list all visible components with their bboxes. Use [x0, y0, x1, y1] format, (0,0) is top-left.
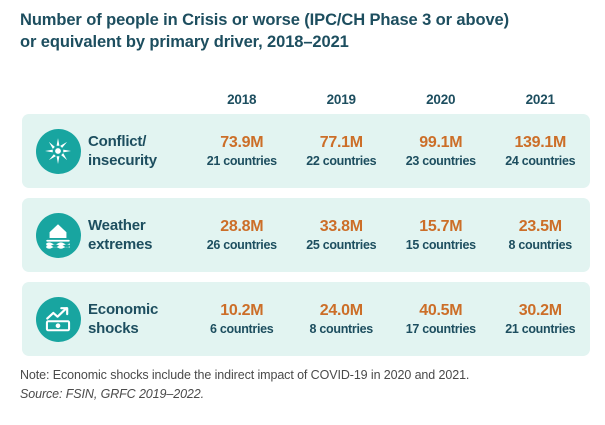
cell-countries: 15 countries — [391, 238, 491, 252]
column-header-2021: 2021 — [491, 92, 591, 107]
table-row: Weather extremes 28.8M 26 countries 33.8… — [22, 198, 590, 272]
title-line-2: or equivalent by primary driver, 2018–20… — [20, 31, 590, 53]
data-cell: 15.7M 15 countries — [391, 218, 491, 253]
data-cell: 28.8M 26 countries — [192, 218, 292, 253]
column-header-2020: 2020 — [391, 92, 491, 107]
row-label: Weather extremes — [88, 216, 192, 254]
cell-countries: 17 countries — [391, 322, 491, 336]
cell-value: 23.5M — [491, 218, 591, 236]
row-label-line-2: extremes — [88, 235, 192, 254]
cell-value: 24.0M — [292, 302, 392, 320]
table-row: Conflict/ insecurity 73.9M 21 countries … — [22, 114, 590, 188]
cell-value: 139.1M — [491, 134, 591, 152]
footer-notes: Note: Economic shocks include the indire… — [20, 366, 590, 404]
data-cell: 139.1M 24 countries — [491, 134, 591, 169]
data-cell: 24.0M 8 countries — [292, 302, 392, 337]
row-icon-cell — [22, 129, 88, 174]
house-flood-icon — [43, 220, 73, 250]
icon-badge — [36, 297, 81, 342]
title-line-1: Number of people in Crisis or worse (IPC… — [20, 9, 590, 31]
column-header-2018: 2018 — [192, 92, 292, 107]
cell-value: 73.9M — [192, 134, 292, 152]
infographic-table: Number of people in Crisis or worse (IPC… — [0, 0, 605, 425]
table-header-row: 2018 2019 2020 2021 — [22, 88, 590, 110]
cell-countries: 24 countries — [491, 154, 591, 168]
footnote-source: Source: FSIN, GRFC 2019–2022. — [20, 385, 590, 404]
data-cell: 40.5M 17 countries — [391, 302, 491, 337]
cell-countries: 8 countries — [491, 238, 591, 252]
data-cell: 73.9M 21 countries — [192, 134, 292, 169]
cell-value: 10.2M — [192, 302, 292, 320]
data-cell: 99.1M 23 countries — [391, 134, 491, 169]
icon-badge — [36, 213, 81, 258]
page-title: Number of people in Crisis or worse (IPC… — [20, 9, 590, 53]
footnote-note: Note: Economic shocks include the indire… — [20, 366, 590, 385]
data-cell: 23.5M 8 countries — [491, 218, 591, 253]
row-icon-cell — [22, 297, 88, 342]
row-label-line-2: shocks — [88, 319, 192, 338]
row-label: Conflict/ insecurity — [88, 132, 192, 170]
table-row: Economic shocks 10.2M 6 countries 24.0M … — [22, 282, 590, 356]
cell-countries: 21 countries — [192, 154, 292, 168]
cell-countries: 8 countries — [292, 322, 392, 336]
row-icon-cell — [22, 213, 88, 258]
cell-countries: 25 countries — [292, 238, 392, 252]
row-label: Economic shocks — [88, 300, 192, 338]
cell-value: 28.8M — [192, 218, 292, 236]
cell-countries: 6 countries — [192, 322, 292, 336]
cell-countries: 26 countries — [192, 238, 292, 252]
cell-value: 15.7M — [391, 218, 491, 236]
cell-countries: 21 countries — [491, 322, 591, 336]
icon-badge — [36, 129, 81, 174]
data-cell: 30.2M 21 countries — [491, 302, 591, 337]
row-label-line-1: Economic — [88, 300, 192, 319]
row-label-line-1: Conflict/ — [88, 132, 192, 151]
cell-value: 30.2M — [491, 302, 591, 320]
row-label-line-2: insecurity — [88, 151, 192, 170]
cell-value: 77.1M — [292, 134, 392, 152]
row-label-line-1: Weather — [88, 216, 192, 235]
data-cell: 33.8M 25 countries — [292, 218, 392, 253]
cell-countries: 23 countries — [391, 154, 491, 168]
cell-value: 40.5M — [391, 302, 491, 320]
cell-countries: 22 countries — [292, 154, 392, 168]
cell-value: 33.8M — [292, 218, 392, 236]
banknote-rising-arrow-icon — [43, 304, 73, 334]
table-body: Conflict/ insecurity 73.9M 21 countries … — [22, 114, 590, 366]
cell-value: 99.1M — [391, 134, 491, 152]
data-cell: 10.2M 6 countries — [192, 302, 292, 337]
starburst-conflict-icon — [43, 136, 73, 166]
data-cell: 77.1M 22 countries — [292, 134, 392, 169]
column-header-2019: 2019 — [292, 92, 392, 107]
